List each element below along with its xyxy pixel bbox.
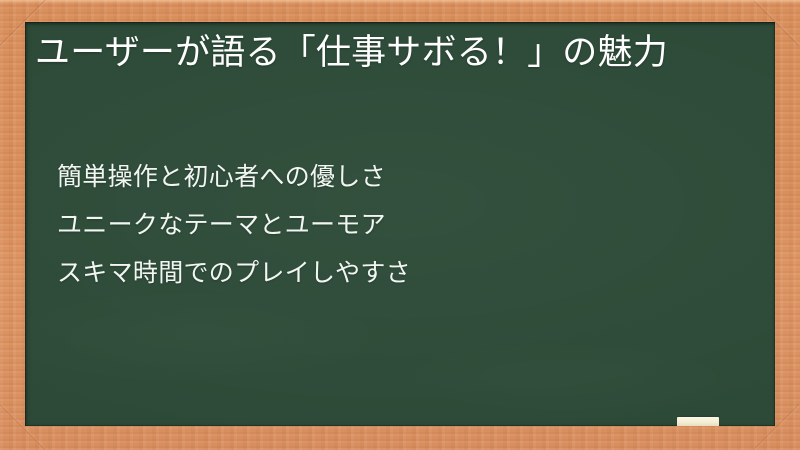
chalkboard-slide: ユーザーが語る「仕事サボる！」の魅力 簡単操作と初心者への優しさ ユニークなテー… bbox=[0, 0, 800, 450]
slide-title: ユーザーが語る「仕事サボる！」の魅力 bbox=[35, 30, 761, 77]
bullet-list: 簡単操作と初心者への優しさ ユニークなテーマとユーモア スキマ時間でのプレイしや… bbox=[57, 152, 761, 296]
list-item: ユニークなテーマとユーモア bbox=[57, 200, 761, 248]
chalkboard-surface: ユーザーが語る「仕事サボる！」の魅力 簡単操作と初心者への優しさ ユニークなテー… bbox=[25, 22, 775, 426]
list-item: スキマ時間でのプレイしやすさ bbox=[57, 248, 761, 296]
list-item: 簡単操作と初心者への優しさ bbox=[57, 152, 761, 200]
slide-content: ユーザーが語る「仕事サボる！」の魅力 簡単操作と初心者への優しさ ユニークなテー… bbox=[35, 22, 761, 426]
chalk-stick-icon bbox=[677, 417, 719, 426]
frame-top-highlight bbox=[0, 0, 800, 4]
